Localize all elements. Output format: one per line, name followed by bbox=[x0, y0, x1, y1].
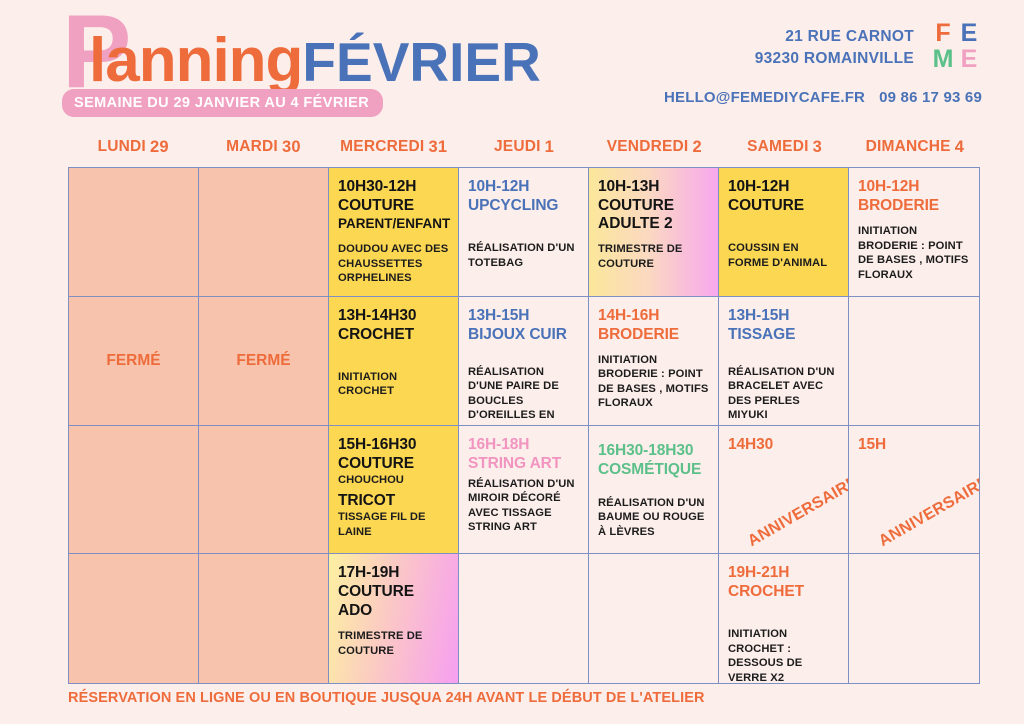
schedule-cell-dimanche-4[interactable] bbox=[849, 554, 979, 683]
day-header-mercredi: MERCREDI31 bbox=[329, 132, 459, 162]
day-header-row: LUNDI29 MARDI30 MERCREDI31 JEUDI1 VENDRE… bbox=[68, 132, 980, 162]
day-name: SAMEDI bbox=[747, 138, 808, 156]
title-month-text: FÉVRIER bbox=[302, 31, 540, 93]
day-header-mardi: MARDI30 bbox=[198, 132, 328, 162]
schedule-cell-samedi-2[interactable]: 13H-15H TISSAGE RÉALISATION D'UN BRACELE… bbox=[719, 297, 849, 426]
day-header-samedi: SAMEDI3 bbox=[719, 132, 849, 162]
day-number: 29 bbox=[150, 138, 169, 157]
schedule-cell-samedi-4[interactable]: 19H-21H CROCHET INITIATION CROCHET : DES… bbox=[719, 554, 849, 683]
anniversaire-label: ANNIVERSAIRE bbox=[745, 473, 849, 551]
event-time: 15H bbox=[858, 435, 970, 454]
event-description: TRIMESTRE DE COUTURE bbox=[338, 629, 449, 658]
event-description: RÉALISATION D'UN TOTEBAG bbox=[468, 241, 579, 270]
event-time: 14H-16H bbox=[598, 306, 709, 325]
event-time: 19H-21H bbox=[728, 563, 839, 582]
schedule-cell-mardi-1[interactable] bbox=[199, 168, 329, 297]
schedule-cell-mercredi-2[interactable]: 13H-14H30 CROCHET INITIATION CROCHET bbox=[329, 297, 459, 426]
event-title: COUTURE bbox=[728, 196, 839, 215]
day-header-lundi: LUNDI29 bbox=[68, 132, 198, 162]
schedule-cell-jeudi-2[interactable]: 13H-15H BIJOUX CUIR RÉALISATION D'UNE PA… bbox=[459, 297, 589, 426]
schedule-cell-lundi-2[interactable]: FERMÉ bbox=[69, 297, 199, 426]
schedule-cell-lundi-3[interactable] bbox=[69, 426, 199, 555]
event-time: 10H-12H bbox=[468, 177, 579, 196]
event-description: RÉALISATION D'UN BRACELET AVEC DES PERLE… bbox=[728, 365, 839, 423]
day-number: 4 bbox=[955, 138, 964, 157]
schedule-cell-lundi-1[interactable] bbox=[69, 168, 199, 297]
event-subtitle: PARENT/ENFANT bbox=[338, 215, 449, 233]
event-time: 10H-13H bbox=[598, 177, 709, 196]
day-name: DIMANCHE bbox=[866, 138, 951, 156]
contact-block: HELLO@FEMEDIYCAFE.FR09 86 17 93 69 bbox=[664, 89, 982, 106]
address-line-2: 93230 ROMAINVILLE bbox=[755, 48, 914, 70]
address-block: 21 RUE CARNOT 93230 ROMAINVILLE bbox=[755, 26, 914, 70]
reservation-note: RÉSERVATION EN LIGNE OU EN BOUTIQUE JUSQ… bbox=[68, 690, 705, 706]
day-name: LUNDI bbox=[98, 138, 146, 156]
schedule-cell-dimanche-3[interactable]: 15H ANNIVERSAIRE bbox=[849, 426, 979, 555]
event-time: 15H-16H30 bbox=[338, 435, 449, 454]
poster-header: P lanningFÉVRIER SEMAINE DU 29 JANVIER A… bbox=[0, 0, 1024, 130]
event-description-secondary: TISSAGE FIL DE LAINE bbox=[338, 510, 449, 540]
day-name: MARDI bbox=[226, 138, 278, 156]
day-number: 2 bbox=[692, 138, 701, 157]
event-time: 13H-15H bbox=[728, 306, 839, 325]
day-header-jeudi: JEUDI1 bbox=[459, 132, 589, 162]
event-title: BRODERIE bbox=[858, 196, 970, 215]
event-title: BIJOUX CUIR bbox=[468, 325, 579, 344]
event-description: DOUDOU AVEC DES CHAUSSETTES ORPHELINES bbox=[338, 242, 449, 286]
event-time: 10H-12H bbox=[858, 177, 970, 196]
event-time: 13H-14H30 bbox=[338, 306, 449, 325]
event-time: 10H-12H bbox=[728, 177, 839, 196]
event-subtitle: ADULTE 2 bbox=[598, 215, 709, 233]
event-description: INITIATION CROCHET bbox=[338, 370, 449, 399]
event-time: 10H30-12H bbox=[338, 177, 449, 196]
schedule-cell-vendredi-1[interactable]: 10H-13H COUTURE ADULTE 2 TRIMESTRE DE CO… bbox=[589, 168, 719, 297]
event-title-secondary: TRICOT bbox=[338, 491, 449, 510]
event-description: RÉALISATION D'UN BAUME OU ROUGE À LÈVRES bbox=[598, 496, 709, 540]
day-header-dimanche: DIMANCHE4 bbox=[850, 132, 980, 162]
schedule-grid: 10H30-12H COUTURE PARENT/ENFANT DOUDOU A… bbox=[68, 167, 980, 684]
schedule-cell-jeudi-1[interactable]: 10H-12H UPCYCLING RÉALISATION D'UN TOTEB… bbox=[459, 168, 589, 297]
title-planning-text: lanning bbox=[89, 26, 302, 95]
logo-letter-m: M bbox=[930, 46, 956, 72]
logo-letter-f: F bbox=[930, 20, 956, 46]
week-range-badge: SEMAINE DU 29 JANVIER AU 4 FÉVRIER bbox=[62, 89, 383, 117]
event-time: 14H30 bbox=[728, 435, 839, 454]
day-name: JEUDI bbox=[494, 138, 541, 156]
schedule-cell-mardi-4[interactable] bbox=[199, 554, 329, 683]
logo-letter-e1: E bbox=[956, 20, 982, 46]
event-title: COUTURE bbox=[598, 196, 709, 215]
day-name: MERCREDI bbox=[340, 138, 424, 156]
closed-label: FERMÉ bbox=[69, 352, 198, 370]
anniversaire-label: ANNIVERSAIRE bbox=[876, 473, 979, 551]
event-description: CHOUCHOU bbox=[338, 473, 449, 488]
event-description: RÉALISATION D'UNE PAIRE DE BOUCLES D'ORE… bbox=[468, 365, 579, 426]
event-description: TRIMESTRE DE COUTURE bbox=[598, 242, 709, 271]
event-time: 17H-19H bbox=[338, 563, 449, 582]
day-header-vendredi: VENDREDI2 bbox=[589, 132, 719, 162]
event-title: CROCHET bbox=[728, 582, 839, 601]
schedule-cell-jeudi-4[interactable] bbox=[459, 554, 589, 683]
schedule-cell-mercredi-1[interactable]: 10H30-12H COUTURE PARENT/ENFANT DOUDOU A… bbox=[329, 168, 459, 297]
event-title: UPCYCLING bbox=[468, 196, 579, 215]
event-title: COUTURE bbox=[338, 582, 449, 601]
schedule-cell-dimanche-1[interactable]: 10H-12H BRODERIE INITIATION BRODERIE : P… bbox=[849, 168, 979, 297]
schedule-cell-mercredi-3[interactable]: 15H-16H30 COUTURE CHOUCHOU TRICOT TISSAG… bbox=[329, 426, 459, 555]
event-title: BRODERIE bbox=[598, 325, 709, 344]
schedule-cell-samedi-1[interactable]: 10H-12H COUTURE COUSSIN EN FORME D'ANIMA… bbox=[719, 168, 849, 297]
schedule-cell-jeudi-3[interactable]: 16H-18H STRING ART RÉALISATION D'UN MIRO… bbox=[459, 426, 589, 555]
address-line-1: 21 RUE CARNOT bbox=[755, 26, 914, 48]
event-description: INITIATION BRODERIE : POINT DE BASES , M… bbox=[858, 224, 970, 282]
day-number: 30 bbox=[282, 138, 301, 157]
day-number: 31 bbox=[428, 138, 447, 157]
event-description: INITIATION BRODERIE : POINT DE BASES , M… bbox=[598, 353, 709, 411]
feme-logo: F E M E bbox=[930, 20, 982, 72]
event-subtitle: ADO bbox=[338, 601, 449, 620]
schedule-cell-vendredi-2[interactable]: 14H-16H BRODERIE INITIATION BRODERIE : P… bbox=[589, 297, 719, 426]
phone-number[interactable]: 09 86 17 93 69 bbox=[879, 89, 982, 106]
schedule-cell-mardi-2[interactable]: FERMÉ bbox=[199, 297, 329, 426]
schedule-cell-lundi-4[interactable] bbox=[69, 554, 199, 683]
event-title: STRING ART bbox=[468, 454, 579, 473]
event-title: COUTURE bbox=[338, 454, 449, 473]
event-description: INITIATION CROCHET : DESSOUS DE VERRE X2 bbox=[728, 627, 839, 683]
event-time: 13H-15H bbox=[468, 306, 579, 325]
schedule-cell-vendredi-3[interactable]: 16H30-18H30 COSMÉTIQUE RÉALISATION D'UN … bbox=[589, 426, 719, 555]
event-description: COUSSIN EN FORME D'ANIMAL bbox=[728, 241, 839, 270]
schedule-cell-mardi-3[interactable] bbox=[199, 426, 329, 555]
event-description: RÉALISATION D'UN MIROIR DÉCORÉ AVEC TISS… bbox=[468, 477, 579, 535]
event-time: 16H-18H bbox=[468, 435, 579, 454]
day-number: 1 bbox=[545, 138, 554, 157]
email-link[interactable]: HELLO@FEMEDIYCAFE.FR bbox=[664, 89, 865, 106]
event-title: CROCHET bbox=[338, 325, 449, 344]
schedule-cell-vendredi-4[interactable] bbox=[589, 554, 719, 683]
event-time: 16H30-18H30 bbox=[598, 441, 709, 460]
closed-label: FERMÉ bbox=[199, 352, 328, 370]
day-name: VENDREDI bbox=[607, 138, 689, 156]
event-title: COUTURE bbox=[338, 196, 449, 215]
logo-letter-e2: E bbox=[956, 46, 982, 72]
planning-poster: P lanningFÉVRIER SEMAINE DU 29 JANVIER A… bbox=[0, 0, 1024, 724]
event-title: COSMÉTIQUE bbox=[598, 460, 709, 479]
day-number: 3 bbox=[813, 138, 822, 157]
schedule-cell-dimanche-2[interactable] bbox=[849, 297, 979, 426]
schedule-cell-mercredi-4[interactable]: 17H-19H COUTURE ADO TRIMESTRE DE COUTURE bbox=[329, 554, 459, 683]
event-title: TISSAGE bbox=[728, 325, 839, 344]
schedule-cell-samedi-3[interactable]: 14H30 ANNIVERSAIRE bbox=[719, 426, 849, 555]
